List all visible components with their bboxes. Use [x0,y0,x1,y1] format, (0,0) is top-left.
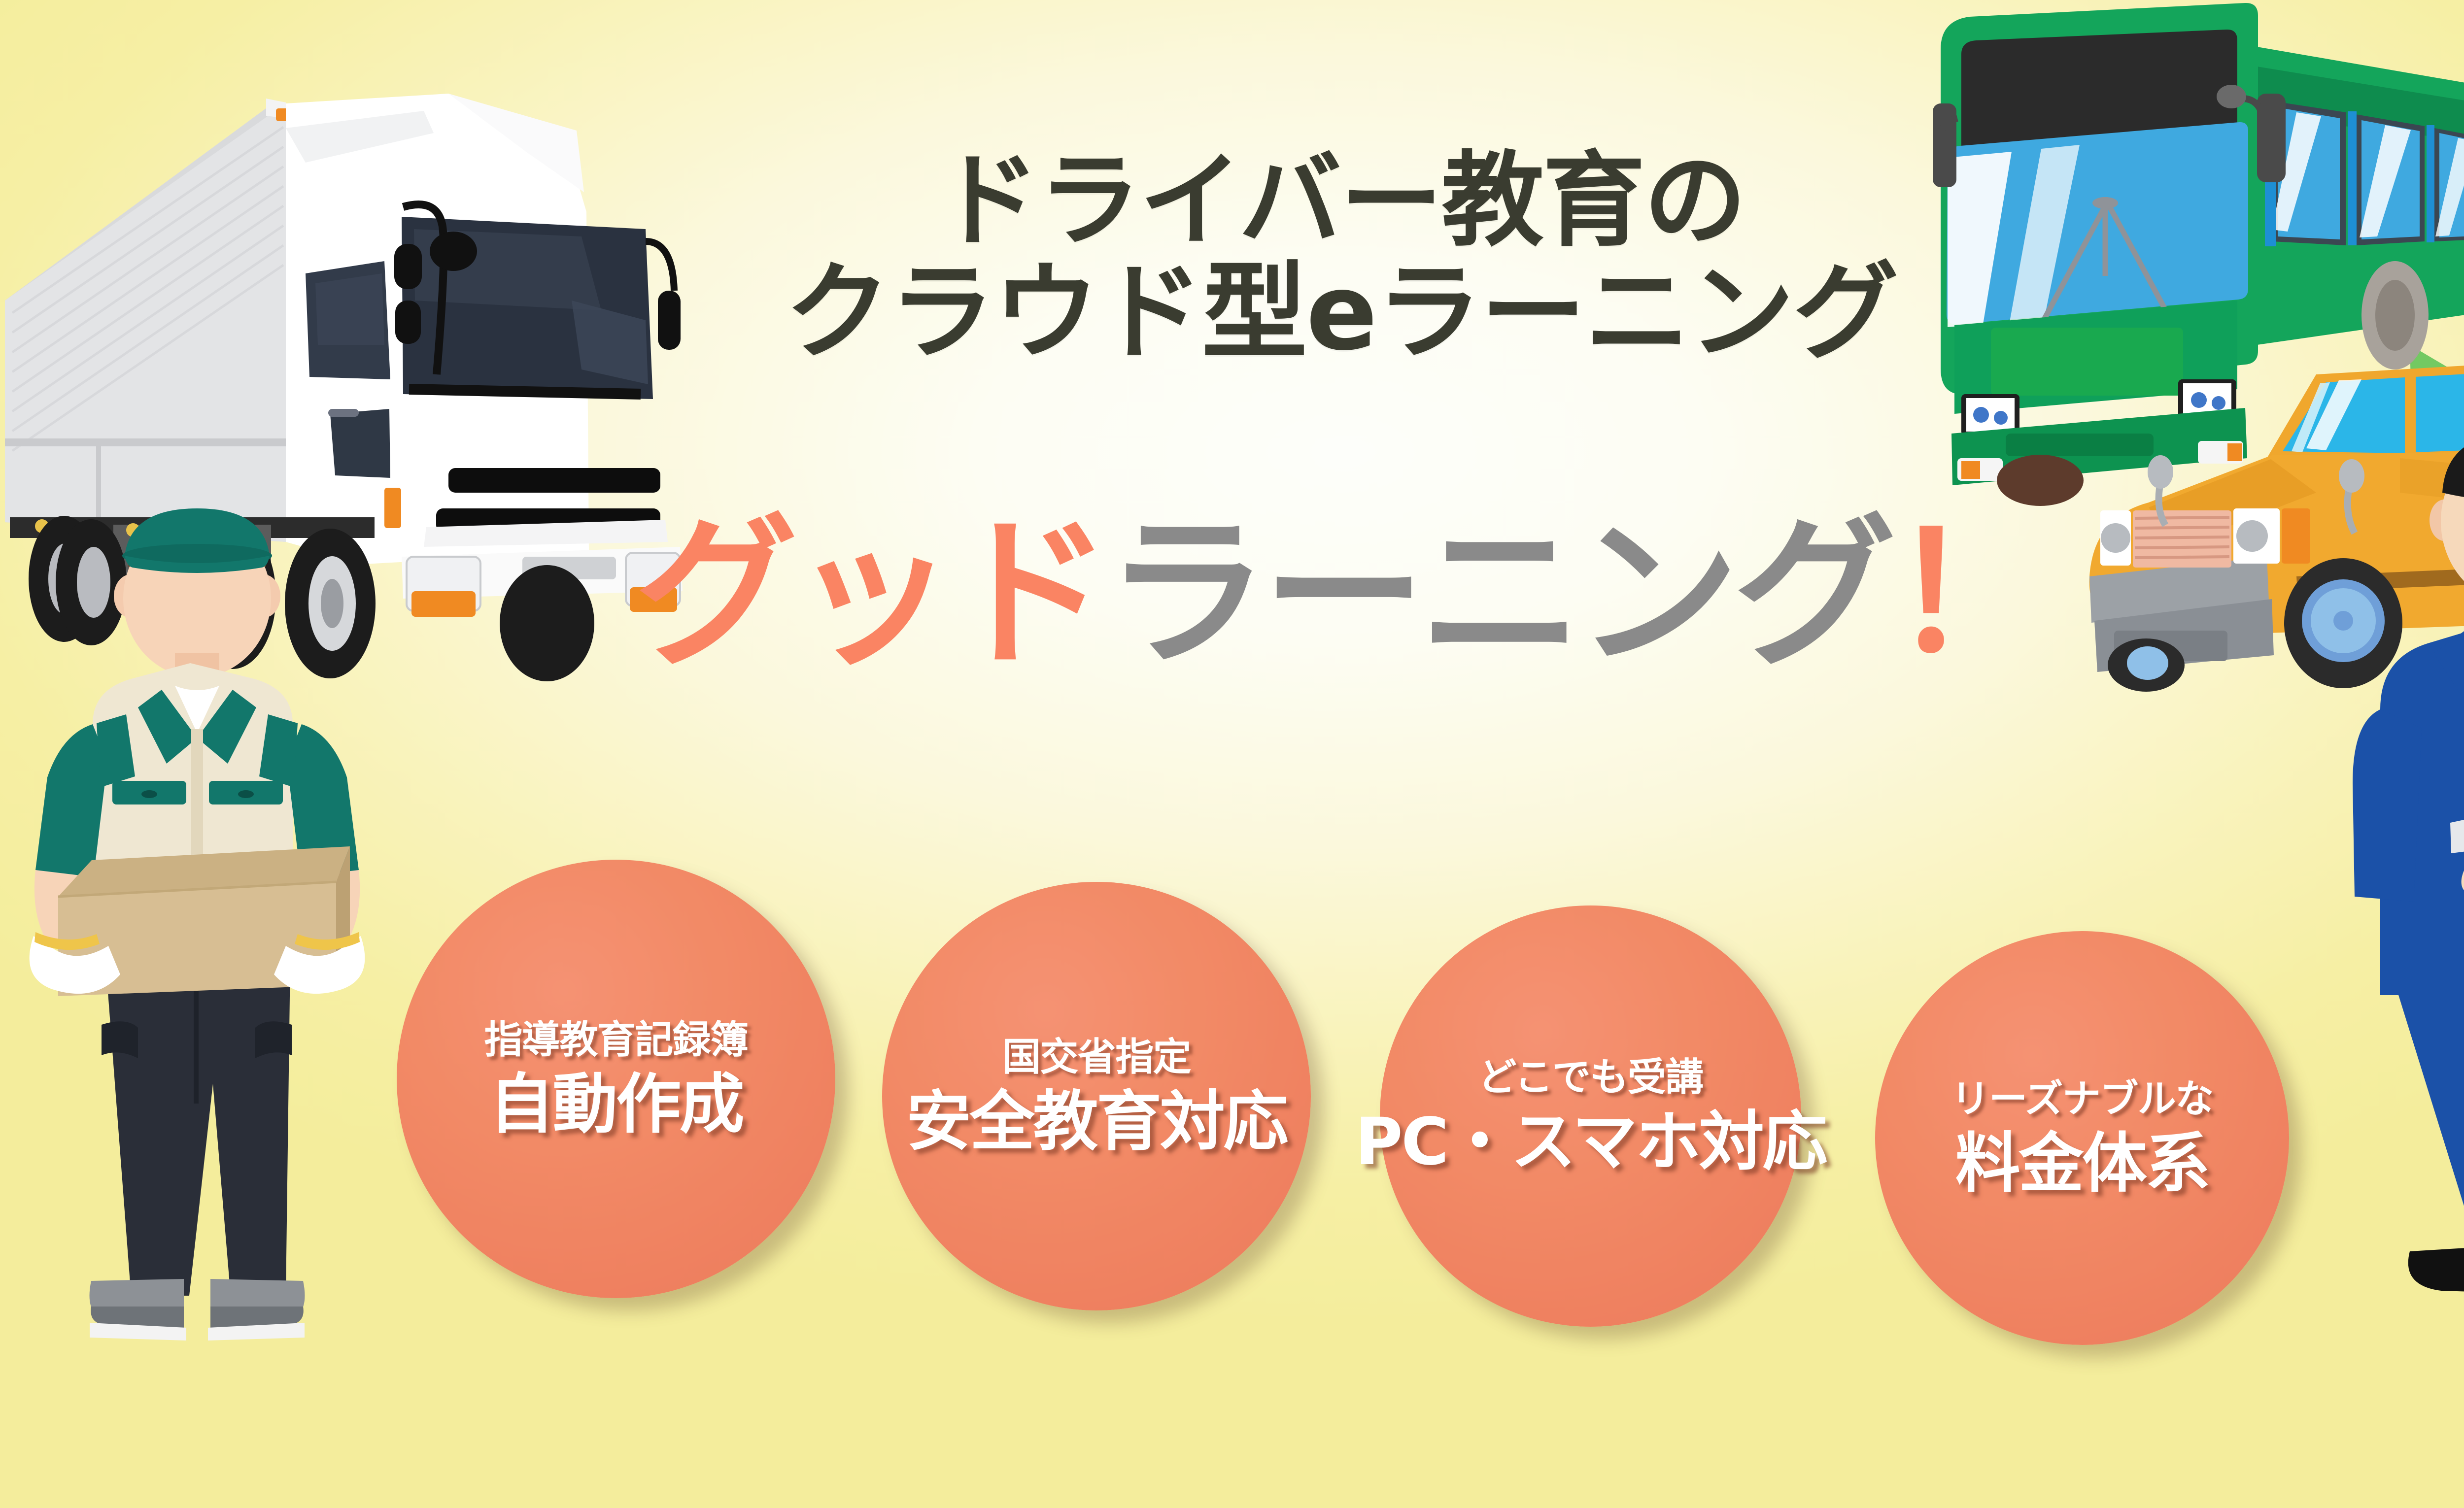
badge-subtitle: 指導教育記録簿 [484,1021,748,1059]
badge-title: 安全教育対応 [906,1089,1287,1154]
feature-badge-safety-education[interactable]: 国交省指定 安全教育対応 [882,882,1311,1310]
badge-title: PC・スマホ対応 [1355,1109,1826,1174]
badge-subtitle: リーズナブルな [1951,1080,2213,1118]
feature-badge-pricing[interactable]: リーズナブルな 料金体系 [1875,931,2289,1345]
badge-subtitle: 国交省指定 [1002,1038,1191,1076]
feature-badge-device-support[interactable]: どこでも受講 PC・スマホ対応 [1380,905,1801,1327]
feature-badge-group: 指導教育記録簿 自動作成 国交省指定 安全教育対応 どこでも受講 PC・スマホ対… [0,0,2464,1508]
feature-badge-auto-create[interactable]: 指導教育記録簿 自動作成 [397,860,835,1298]
badge-title: 料金体系 [1955,1131,2209,1196]
banner-root: ドライバー教育の クラウド型eラーニング グッドラーニング！ 指導教育記録簿 自… [0,0,2464,1508]
badge-title: 自動作成 [489,1072,743,1137]
badge-subtitle: どこでも受講 [1478,1058,1703,1097]
